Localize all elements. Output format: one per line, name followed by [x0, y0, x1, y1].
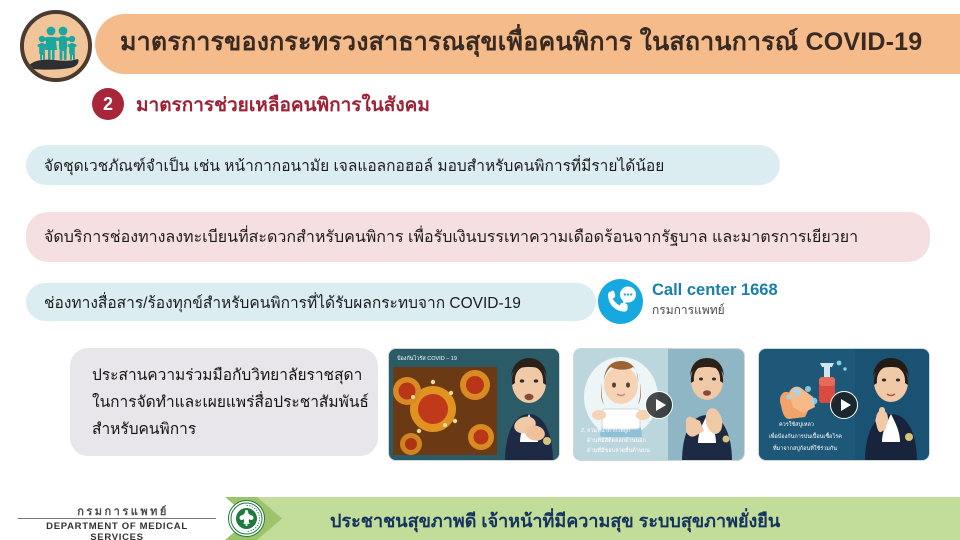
family-in-hand-icon [20, 10, 92, 82]
video-thumbnail-2[interactable]: 2. สวมหน้ากากให้ถูก ด้านที่มีสีติดออกด้า… [573, 348, 745, 461]
play-button-2[interactable] [645, 391, 673, 419]
measure-text-3: ช่องทางสื่อสาร/ร้องทุกข์สำหรับคนพิการที่… [26, 290, 521, 315]
collaboration-panel: ประสานความร่วมมือกับวิทยาลัยราชสุดา ในกา… [70, 348, 378, 456]
section-title: มาตรการช่วยเหลือคนพิการในสังคม [136, 90, 430, 120]
collaboration-line-3: สำหรับคนพิการ [92, 416, 378, 443]
section-number-badge: 2 [92, 88, 124, 120]
department-name-english: DEPARTMENT OF MEDICAL SERVICES [18, 521, 216, 540]
page-title: มาตรการของกระทรวงสาธารณสุขเพื่อคนพิการ ใ… [120, 22, 950, 62]
video-caption-1: ป้องกันไวรัส COVID – 19 [397, 355, 457, 363]
video-caption-2-line-2: ด้านที่มีสีติดออกด้านนอก [587, 437, 646, 445]
call-center-title: Call center 1668 [652, 281, 778, 300]
ministry-of-public-health-seal-icon [228, 500, 265, 537]
collaboration-line-2: ในการจัดทำและเผยแพร่สื่อประชาสัมพันธ์ [92, 389, 378, 416]
video-caption-3-line-1: ควรใช้สบู่เหลว [779, 421, 814, 429]
footer-slogan: ประชาชนสุขภาพดี เจ้าหน้าที่มีความสุข ระบ… [330, 506, 780, 535]
footer-divider [18, 518, 216, 519]
measure-text-1: จัดชุดเวชภัณฑ์จำเป็น เช่น หน้ากากอนามัย … [26, 153, 664, 178]
video-caption-3-line-2: เพื่อป้องกันการปนเปื้อนเชื้อโรค [769, 433, 842, 441]
slide-canvas: มาตรการของกระทรวงสาธารณสุขเพื่อคนพิการ ใ… [0, 0, 960, 540]
phone-chat-icon[interactable] [598, 279, 643, 324]
call-center-subtitle: กรมการแพทย์ [652, 301, 778, 320]
video-thumbnail-3[interactable]: ควรใช้สบู่เหลว เพื่อป้องกันการปนเปื้อนเช… [758, 348, 930, 461]
video-caption-2-line-1: 2. สวมหน้ากากให้ถูก [581, 427, 630, 435]
measure-bar-2: จัดบริการช่องทางลงทะเบียนที่สะดวกสำหรับค… [26, 212, 930, 262]
video-caption-3-line-3: ที่มาจากสบู่ก้อนที่ใช้ร่วมกัน [773, 445, 837, 453]
measure-bar-1: จัดชุดเวชภัณฑ์จำเป็น เช่น หน้ากากอนามัย … [26, 145, 780, 185]
collaboration-line-1: ประสานความร่วมมือกับวิทยาลัยราชสุดา [92, 362, 378, 389]
measure-bar-3: ช่องทางสื่อสาร/ร้องทุกข์สำหรับคนพิการที่… [26, 283, 596, 321]
call-center-block: Call center 1668 กรมการแพทย์ [652, 281, 778, 320]
measure-text-2: จัดบริการช่องทางลงทะเบียนที่สะดวกสำหรับค… [26, 225, 858, 250]
video-thumbnail-1[interactable]: ป้องกันไวรัส COVID – 19 [388, 348, 560, 461]
play-button-3[interactable] [830, 391, 858, 419]
video-caption-2-line-3: ด้านที่มีขอบลวดยื่นด้านบน [587, 447, 650, 455]
